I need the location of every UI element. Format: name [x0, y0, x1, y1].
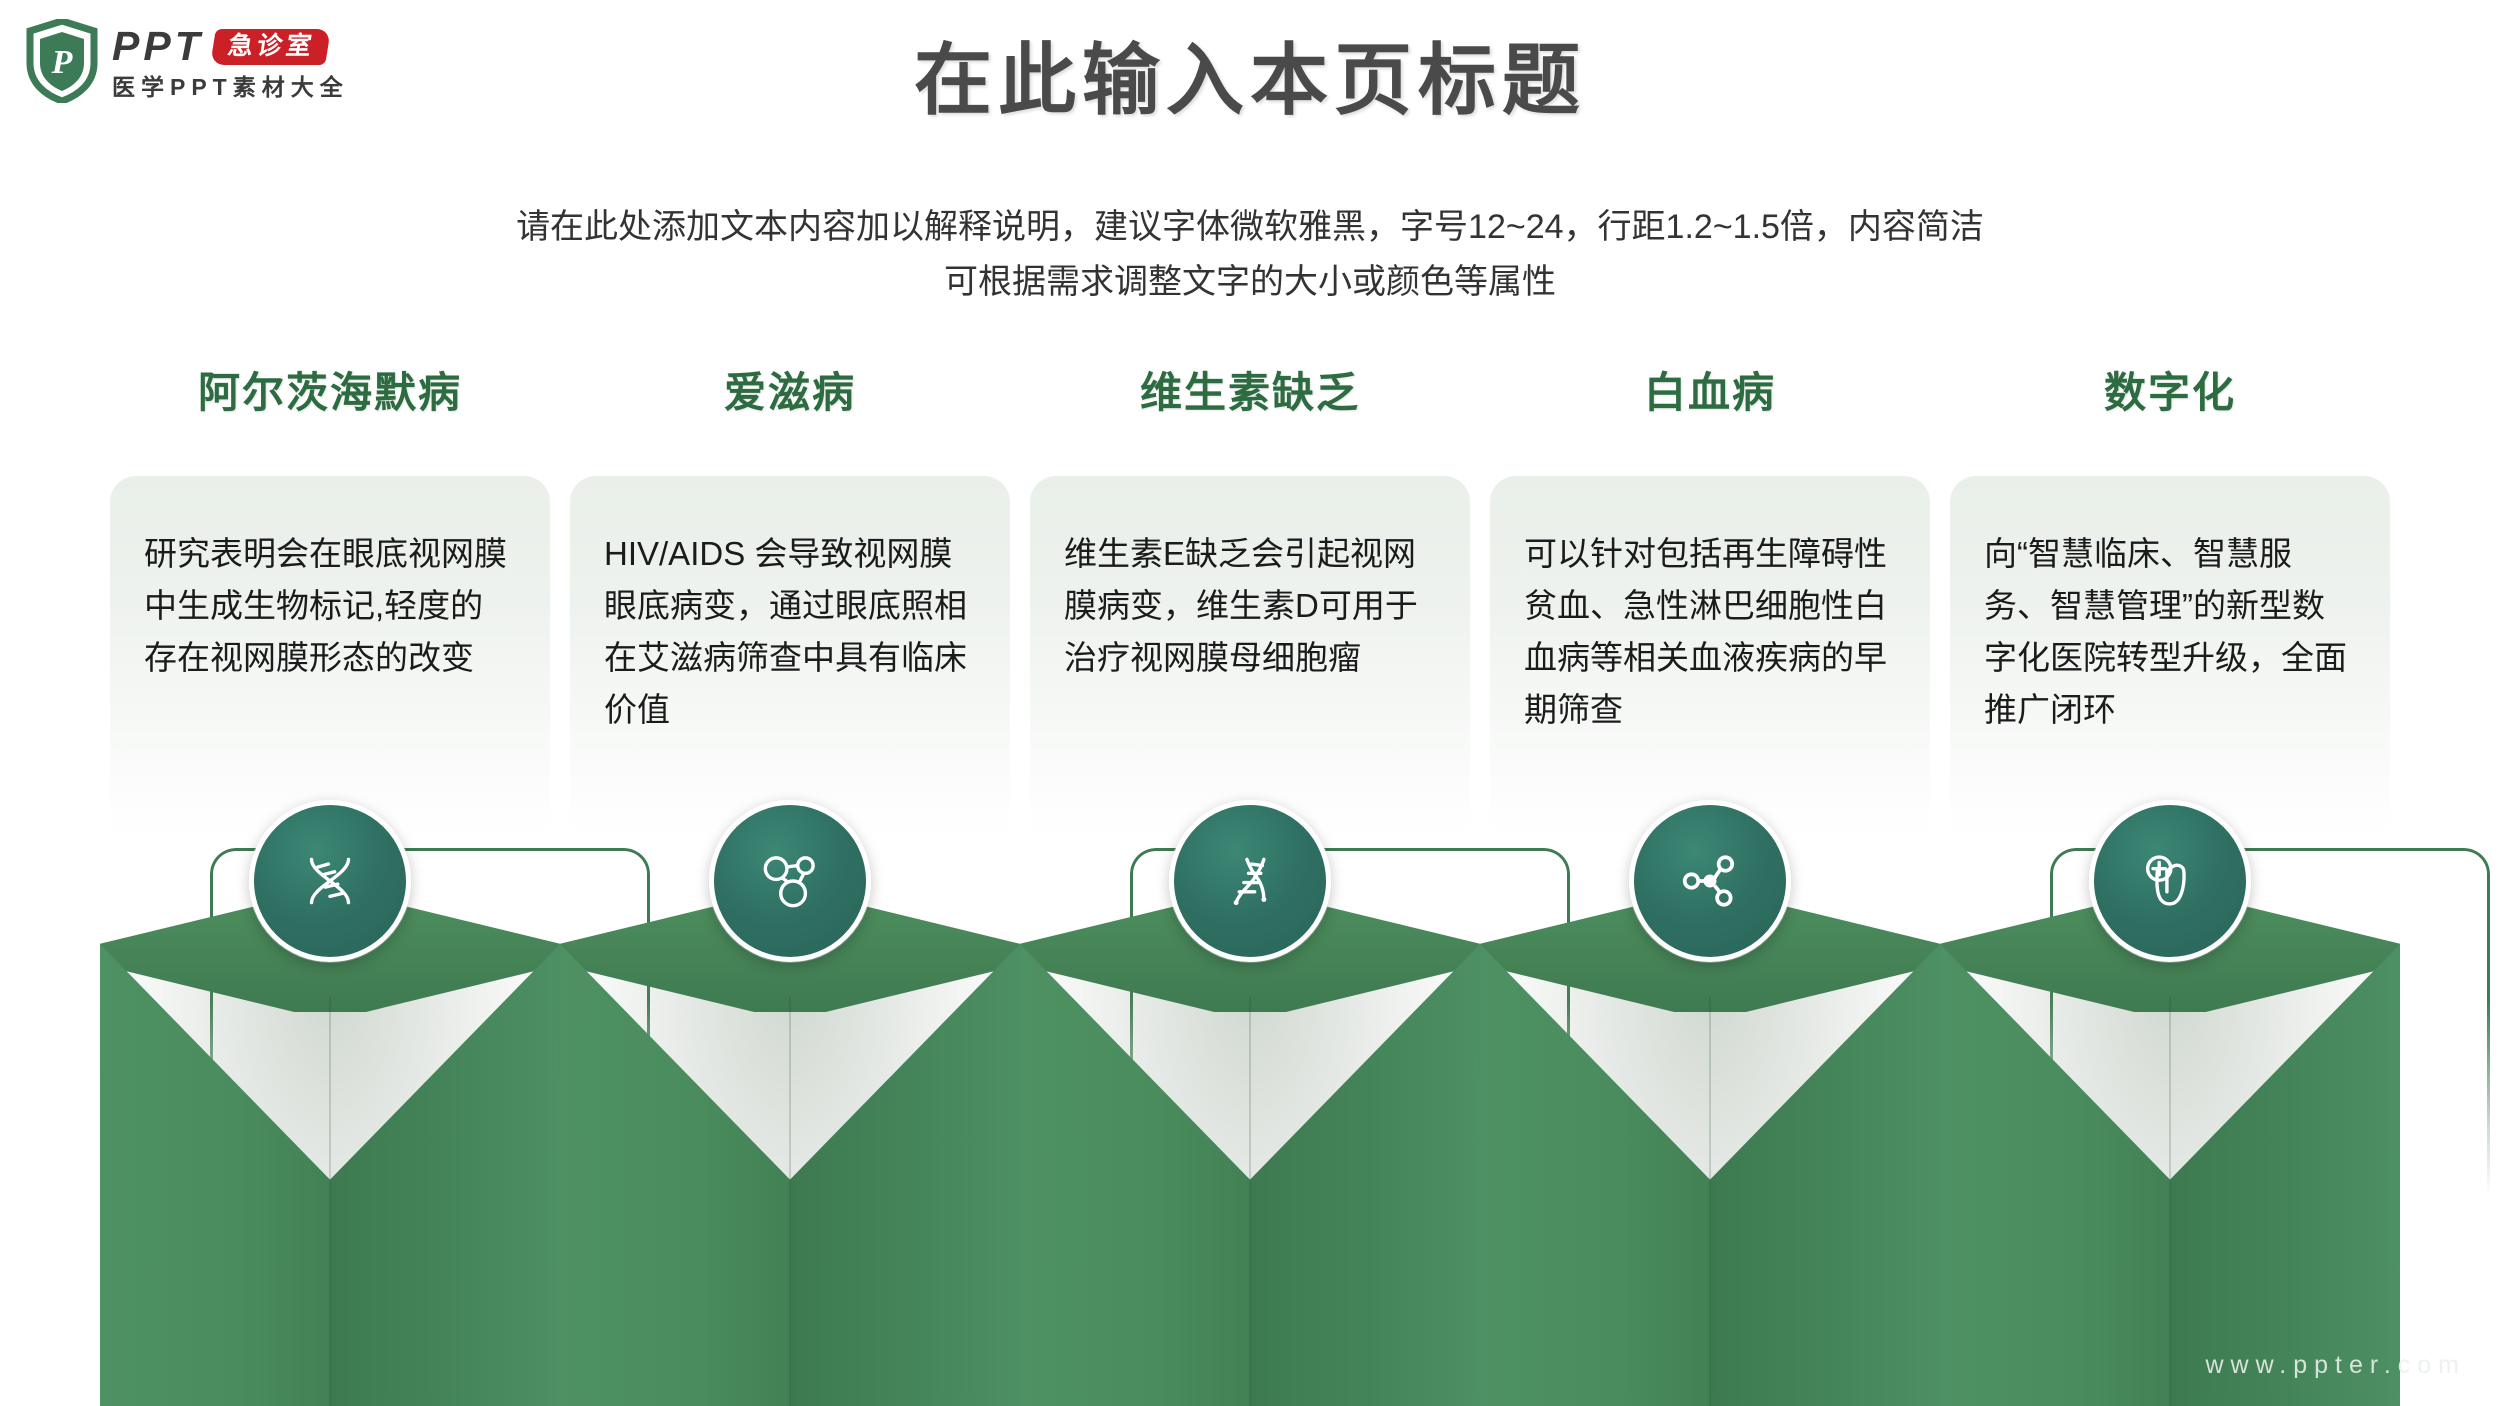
column-4[interactable]: 白血病 可以针对包括再生障碍性贫血、急性淋巴细胞性白血病等相关血液疾病的早期筛查: [1480, 372, 1940, 1406]
card-body-text: 维生素E缺乏会引起视网膜病变，维生素D可用于治疗视网膜母细胞瘤: [1064, 528, 1436, 684]
subtitle-line-2: 可根据需求调整文字的大小或颜色等属性: [0, 255, 2500, 310]
card-body-text: 可以针对包括再生障碍性贫血、急性淋巴细胞性白血病等相关血液疾病的早期筛查: [1524, 528, 1896, 737]
pillar-front-edge: [789, 996, 791, 1406]
info-card: HIV/AIDS 会导致视网膜眼底病变，通过眼底照相在艾滋病筛查中具有临床价值: [570, 476, 1010, 836]
info-card: 向“智慧临床、智慧服务、智慧管理”的新型数字化医院转型升级，全面推广闭环: [1950, 476, 2390, 836]
page-subtitle: 请在此处添加文本内容加以解释说明，建议字体微软雅黑，字号12~24，行距1.2~…: [0, 200, 2500, 310]
column-3[interactable]: 维生素缺乏 维生素E缺乏会引起视网膜病变，维生素D可用于治疗视网膜母细胞瘤: [1020, 372, 1480, 1406]
pillar-3d: [1480, 888, 1940, 1406]
heart-plus-icon[interactable]: [2089, 800, 2251, 962]
card-body-text: HIV/AIDS 会导致视网膜眼底病变，通过眼底照相在艾滋病筛查中具有临床价值: [604, 528, 976, 737]
pillar-3d: [1020, 888, 1480, 1406]
pillar-3d: [560, 888, 1020, 1406]
page-title: 在此输入本页标题: [0, 36, 2500, 126]
slide-canvas: P PPT 急诊室 医学PPT素材大全 在此输入本页标题 请在此处添加文本内容加…: [0, 0, 2500, 1406]
column-heading: 维生素缺乏: [1020, 372, 1480, 414]
card-body-text: 研究表明会在眼底视网膜中生成生物标记,轻度的存在视网膜形态的改变: [144, 528, 516, 684]
dna-helix-icon[interactable]: [249, 800, 411, 962]
pillar-3d: [1940, 888, 2400, 1406]
column-5[interactable]: 数字化 向“智慧临床、智慧服务、智慧管理”的新型数字化医院转型升级，全面推广闭环: [1940, 372, 2400, 1406]
info-card: 可以针对包括再生障碍性贫血、急性淋巴细胞性白血病等相关血液疾病的早期筛查: [1490, 476, 1930, 836]
column-heading: 数字化: [1940, 372, 2400, 414]
pillar-front-edge: [329, 996, 331, 1406]
pillar-front-edge: [1709, 996, 1711, 1406]
watermark: www.ppter.com: [2205, 1351, 2466, 1380]
column-heading: 阿尔茨海默病: [100, 372, 560, 414]
card-body-text: 向“智慧临床、智慧服务、智慧管理”的新型数字化医院转型升级，全面推广闭环: [1984, 528, 2356, 737]
molecule-icon[interactable]: [709, 800, 871, 962]
dna-strand-icon[interactable]: [1169, 800, 1331, 962]
pillar-3d: [100, 888, 560, 1406]
column-2[interactable]: 爱滋病 HIV/AIDS 会导致视网膜眼底病变，通过眼底照相在艾滋病筛查中具有临…: [560, 372, 1020, 1406]
subtitle-line-1: 请在此处添加文本内容加以解释说明，建议字体微软雅黑，字号12~24，行距1.2~…: [0, 200, 2500, 255]
info-card: 研究表明会在眼底视网膜中生成生物标记,轻度的存在视网膜形态的改变: [110, 476, 550, 836]
network-node-icon[interactable]: [1629, 800, 1791, 962]
column-group: 阿尔茨海默病 研究表明会在眼底视网膜中生成生物标记,轻度的存在视网膜形态的改变: [0, 372, 2500, 1406]
pillar-front-edge: [1249, 996, 1251, 1406]
column-heading: 白血病: [1480, 372, 1940, 414]
column-1[interactable]: 阿尔茨海默病 研究表明会在眼底视网膜中生成生物标记,轻度的存在视网膜形态的改变: [100, 372, 560, 1406]
info-card: 维生素E缺乏会引起视网膜病变，维生素D可用于治疗视网膜母细胞瘤: [1030, 476, 1470, 836]
column-heading: 爱滋病: [560, 372, 1020, 414]
pillar-front-edge: [2169, 996, 2171, 1406]
